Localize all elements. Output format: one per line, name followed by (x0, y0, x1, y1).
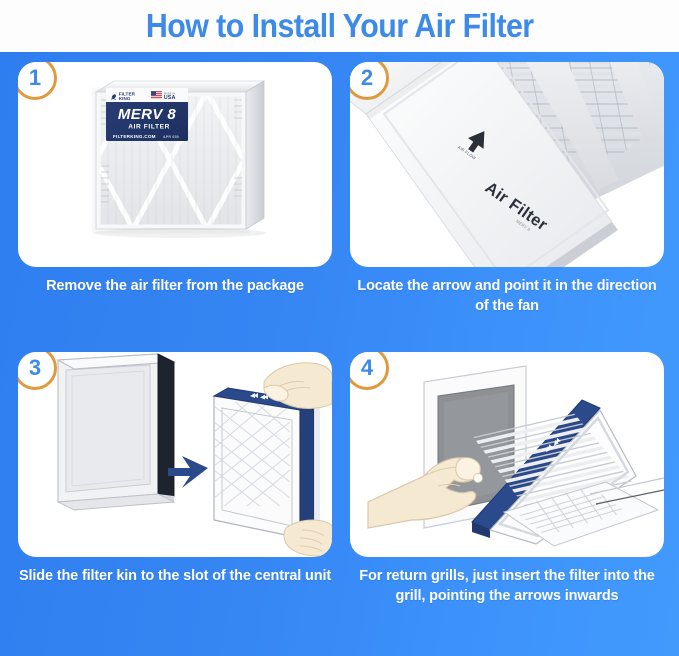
steps-grid: FILTER KING (0, 52, 679, 656)
step-number-1: 1 (29, 67, 41, 89)
step-number-4: 4 (361, 357, 373, 379)
step-card-1: FILTER KING (18, 62, 332, 297)
svg-text:KING: KING (119, 96, 131, 101)
svg-text:AIR FILTER: AIR FILTER (128, 124, 170, 131)
svg-text:FILTERKING.COM: FILTERKING.COM (113, 134, 156, 139)
step-1-image-card: FILTER KING (18, 62, 332, 267)
step-caption-2: Locate the arrow and point it in the dir… (350, 277, 664, 316)
step-number-3: 3 (29, 357, 41, 379)
step-card-3: 3 Slide the filter kin to the slot of th… (18, 352, 332, 587)
svg-text:APR 650: APR 650 (163, 135, 179, 139)
step-card-4: 4 For return grills, just insert the fil… (350, 352, 664, 606)
hands-sliding-filter-illustration (18, 352, 332, 557)
air-filter-in-package-illustration: FILTER KING (18, 62, 332, 267)
step-caption-4: For return grills, just insert the filte… (350, 567, 664, 606)
page-title: How to Install Your Air Filter (146, 7, 534, 45)
step-2-image-card: AIR FLOW Air Filter MERV 8 (350, 62, 664, 267)
filter-corner-with-arrow-illustration: AIR FLOW Air Filter MERV 8 (350, 62, 664, 267)
header-band: How to Install Your Air Filter (0, 0, 679, 52)
svg-text:MERV 8: MERV 8 (118, 106, 177, 123)
svg-text:USA: USA (164, 95, 176, 101)
step-number-2: 2 (361, 67, 373, 89)
step-caption-3: Slide the filter kin to the slot of the … (18, 567, 332, 587)
step-caption-1: Remove the air filter from the package (18, 277, 332, 297)
step-4-image-card: 4 (350, 352, 664, 557)
step-card-2: AIR FLOW Air Filter MERV 8 (350, 62, 664, 316)
infographic-page: How to Install Your Air Filter (0, 0, 679, 656)
step-3-image-card: 3 (18, 352, 332, 557)
hand-inserting-filter-into-grill-illustration (350, 352, 664, 557)
